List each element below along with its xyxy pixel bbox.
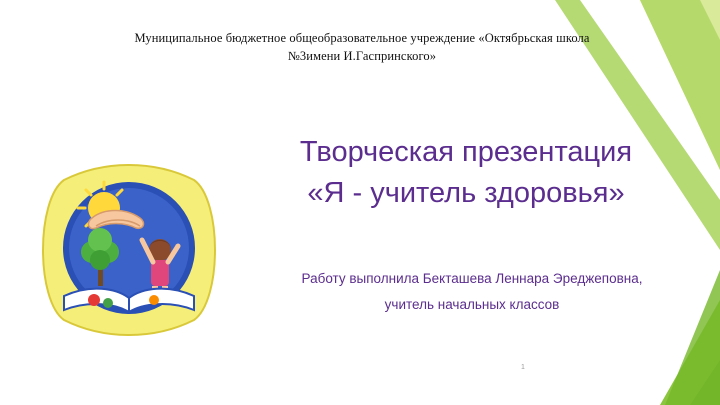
author-block: Работу выполнила Бекташева Леннара Эредж… [262, 266, 682, 317]
page-number: 1 [521, 364, 525, 371]
institution-line-2: №3имени И.Гаспринского» [88, 48, 636, 66]
school-health-emblem-icon [34, 160, 224, 340]
page-title: Творческая презентация «Я - учитель здор… [236, 132, 696, 214]
title-line-1: Творческая презентация [236, 132, 696, 173]
institution-header: Муниципальное бюджетное общеобразователь… [88, 30, 636, 66]
author-line-2: учитель начальных классов [262, 292, 682, 318]
title-line-2: «Я - учитель здоровья» [236, 173, 696, 214]
author-line-1: Работу выполнила Бекташева Леннара Эредж… [262, 266, 682, 292]
slide: Муниципальное бюджетное общеобразователь… [0, 0, 720, 405]
institution-line-1: Муниципальное бюджетное общеобразователь… [134, 31, 589, 45]
